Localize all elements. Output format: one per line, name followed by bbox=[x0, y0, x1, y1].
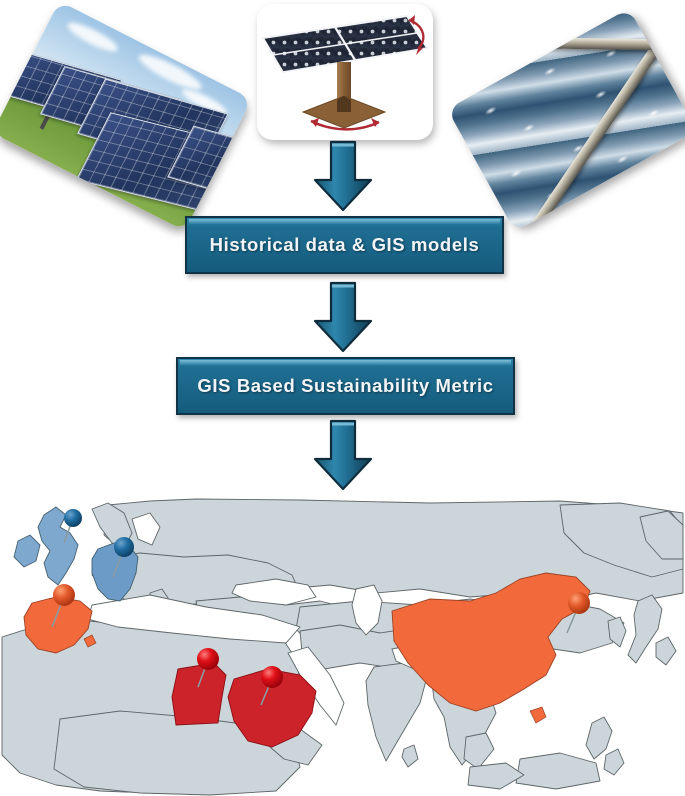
solar-tracker-diagram bbox=[257, 4, 433, 140]
world-map[interactable] bbox=[0, 497, 685, 796]
tracker-illustration bbox=[257, 4, 433, 140]
arrow-to-metric bbox=[311, 281, 375, 353]
parabolic-trough-mirror-photo bbox=[447, 8, 685, 231]
trough-photo-content bbox=[447, 8, 685, 231]
flow-box-sustainability-metric[interactable]: GIS Based Sustainability Metric bbox=[176, 357, 515, 415]
arrow-to-historical bbox=[311, 140, 375, 212]
map-svg bbox=[0, 497, 685, 796]
flow-box-historical-data[interactable]: Historical data & GIS models bbox=[185, 216, 504, 274]
pv-photo-content bbox=[0, 1, 252, 231]
solar-pv-panel-photo bbox=[0, 1, 252, 231]
flow-box-metric-label: GIS Based Sustainability Metric bbox=[197, 375, 493, 397]
country-egypt[interactable] bbox=[172, 663, 226, 725]
flow-box-historical-label: Historical data & GIS models bbox=[210, 234, 480, 256]
arrow-to-map bbox=[311, 419, 375, 491]
diagram-canvas: Historical data & GIS models GIS Based S… bbox=[0, 0, 685, 796]
